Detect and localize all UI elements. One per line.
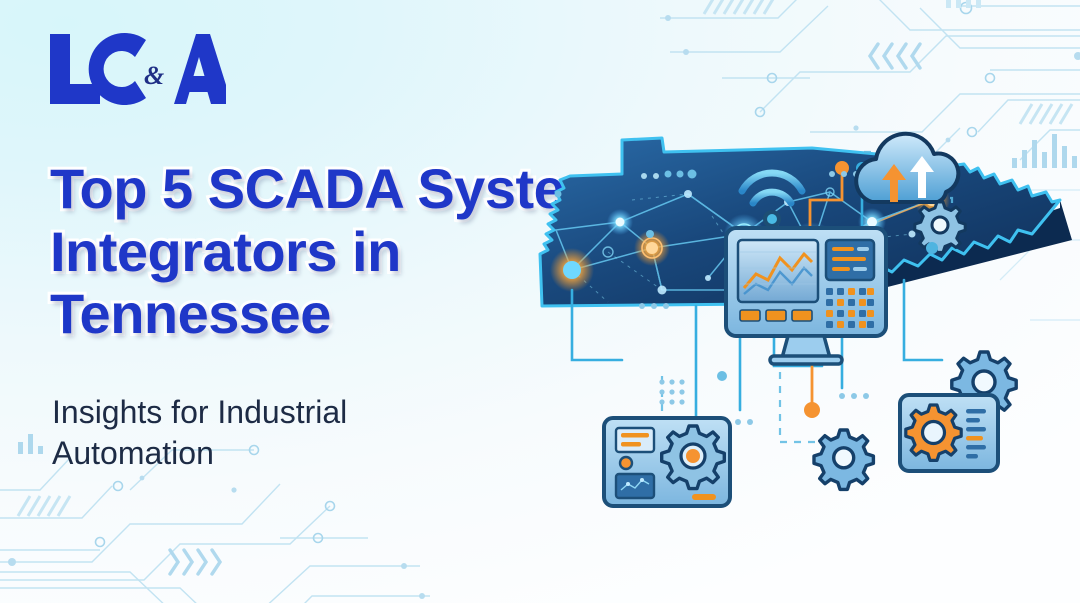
- page-subtitle: Insights for Industrial Automation: [52, 392, 522, 474]
- cloud-upload-icon: [856, 134, 958, 202]
- svg-text:&: &: [144, 61, 164, 90]
- illustration-svg: [512, 130, 1080, 530]
- control-panel-right: [900, 395, 998, 471]
- gear-bottom-center-icon: [814, 430, 873, 489]
- lca-logo-mark: &: [46, 30, 226, 108]
- monitor-buttons: [740, 310, 812, 321]
- lca-logo[interactable]: &: [46, 30, 226, 108]
- gear-small-cloud-icon: [915, 202, 965, 252]
- hero-banner: & Top 5 SCADA System Integrators in Tenn…: [0, 0, 1080, 603]
- tennessee-scada-network-illustration: [512, 130, 1080, 530]
- hmi-monitor: [726, 228, 886, 364]
- control-panel-left: [604, 418, 730, 506]
